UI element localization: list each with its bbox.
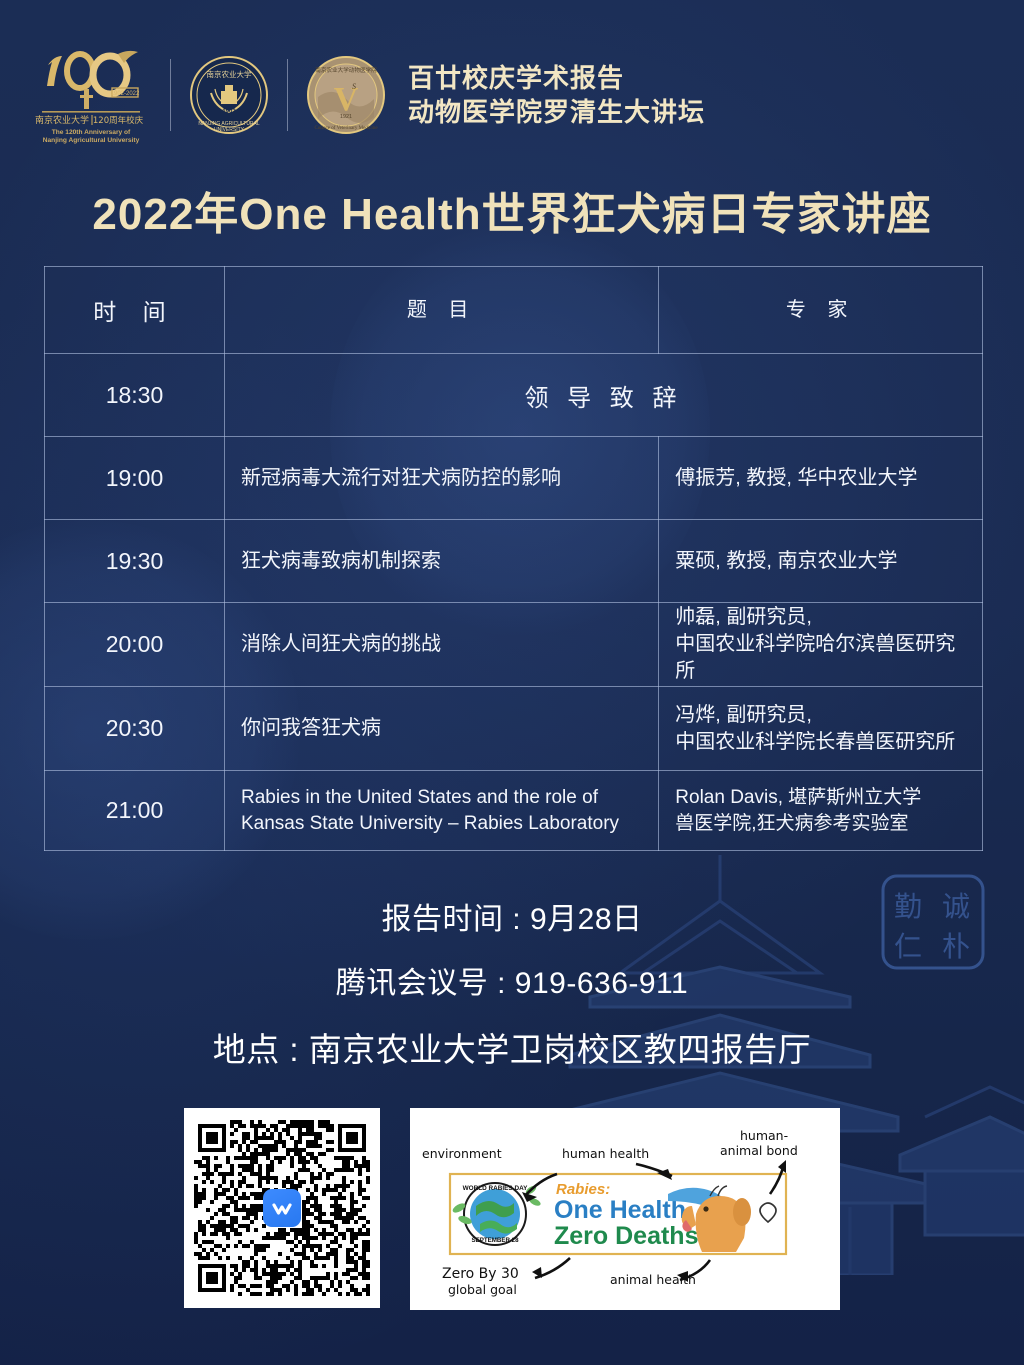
row-time: 19:30 — [45, 520, 225, 603]
label-human-health: human health — [562, 1146, 649, 1161]
row-topic-line-2: Kansas State University – Rabies Laborat… — [241, 813, 619, 834]
table-row: 19:30 狂犬病毒致病机制探索 粟硕, 教授, 南京农业大学 — [45, 520, 983, 603]
row-expert-line-1: 帅磊, 副研究员, — [675, 606, 812, 628]
label-human-animal-bond-line-2: animal bond — [720, 1143, 798, 1158]
row-expert-line-2: 中国农业科学院哈尔滨兽医研究所 — [675, 633, 955, 682]
row-time: 18:30 — [45, 354, 225, 437]
svg-text:Nanjing Agricultural Universit: Nanjing Agricultural University — [43, 137, 140, 144]
label-zero-by-30-line-2: global goal — [448, 1282, 517, 1297]
row-expert-line-2: 兽医学院,狂犬病参考实验室 — [675, 813, 908, 834]
svg-text:120周年校庆: 120周年校庆 — [93, 115, 144, 126]
veterinary-college-seal-logo: 南京农业大学动物医学院 V S 1921 College of Veterina… — [306, 55, 386, 135]
table-row: 19:00 新冠病毒大流行对狂犬病防控的影响 傅振芳, 教授, 华中农业大学 — [45, 437, 983, 520]
info-meeting-id: 腾讯会议号 : 919-636-911 — [0, 969, 1024, 999]
qr-code-panel[interactable] — [184, 1108, 380, 1308]
row-expert: 冯烨, 副研究员, 中国农业科学院长春兽医研究所 — [659, 687, 983, 771]
row-topic-line-1: Rabies in the United States and the role… — [241, 787, 598, 808]
row-expert: 粟硕, 教授, 南京农业大学 — [659, 520, 983, 603]
poster-header: 1902-2022 南京农业大学 120周年校庆 The 120th Anniv… — [0, 40, 1024, 150]
svg-text:1902: 1902 — [222, 109, 236, 115]
one-health-infographic: WORLD RABIES DAY SEPTEMBER 28 Rabies: On… — [410, 1108, 840, 1310]
row-expert: 傅振芳, 教授, 华中农业大学 — [659, 437, 983, 520]
svg-text:南京农业大学: 南京农业大学 — [35, 114, 89, 126]
svg-text:UNIVERSITY: UNIVERSITY — [214, 127, 245, 133]
row-expert: 帅磊, 副研究员, 中国农业科学院哈尔滨兽医研究所 — [659, 603, 983, 687]
header-divider-1 — [170, 59, 171, 131]
qr-code-inner — [194, 1120, 370, 1296]
svg-text:南京农业大学动物医学院: 南京农业大学动物医学院 — [315, 66, 377, 74]
row-topic: 新冠病毒大流行对狂犬病防控的影响 — [224, 437, 658, 520]
svg-text:College of Veterinary Medicine: College of Veterinary Medicine — [314, 126, 378, 131]
row-topic: 你问我答狂犬病 — [224, 687, 658, 771]
column-header-topic: 题 目 — [224, 267, 658, 354]
badge-bottom-text: SEPTEMBER 28 — [471, 1237, 519, 1244]
svg-text:1902-2022: 1902-2022 — [111, 91, 140, 97]
row-expert-line-1: Rolan Davis, 堪萨斯州立大学 — [675, 787, 921, 808]
poster-root: 勤 诚 仁 朴 1902-2022 南京农业 — [0, 0, 1024, 1365]
label-animal-health: animal health — [610, 1272, 696, 1287]
header-title-line-2: 动物医学院罗清生大讲坛 — [408, 95, 705, 129]
label-environment: environment — [422, 1146, 502, 1161]
anniversary-120-logo: 1902-2022 南京农业大学 120周年校庆 The 120th Anniv… — [30, 45, 152, 145]
schedule-table: 时 间 题 目 专 家 18:30 领 导 致 辞 19:00 新冠病毒大流行对… — [44, 266, 983, 851]
row-time: 20:30 — [45, 687, 225, 771]
svg-text:南京农业大学: 南京农业大学 — [207, 69, 252, 79]
table-row: 20:30 你问我答狂犬病 冯烨, 副研究员, 中国农业科学院长春兽医研究所 — [45, 687, 983, 771]
one-health-graphic-panel: WORLD RABIES DAY SEPTEMBER 28 Rabies: On… — [410, 1108, 840, 1310]
row-topic: Rabies in the United States and the role… — [224, 771, 658, 851]
label-human-animal-bond-line-1: human- — [740, 1128, 788, 1143]
row-topic-merged: 领 导 致 辞 — [224, 354, 982, 437]
column-header-expert: 专 家 — [659, 267, 983, 354]
label-zero-by-30-line-1: Zero By 30 — [442, 1266, 519, 1282]
header-divider-2 — [287, 59, 288, 131]
voov-mark-icon — [270, 1196, 294, 1220]
table-row: 21:00 Rabies in the United States and th… — [45, 771, 983, 851]
row-topic: 狂犬病毒致病机制探索 — [224, 520, 658, 603]
badge-top-text: WORLD RABIES DAY — [463, 1185, 528, 1192]
svg-text:1921: 1921 — [340, 114, 352, 120]
row-expert-line-1: 冯烨, 副研究员, — [675, 704, 812, 726]
bottom-media-row: WORLD RABIES DAY SEPTEMBER 28 Rabies: On… — [0, 1108, 1024, 1318]
university-seal-logo: 南京农业大学 1902 NANJING AGRICULTURAL UNIVERS… — [189, 55, 269, 135]
schedule-table-wrapper: 时 间 题 目 专 家 18:30 领 导 致 辞 19:00 新冠病毒大流行对… — [44, 266, 983, 851]
tencent-meeting-logo-icon — [263, 1189, 301, 1227]
table-header-row: 时 间 题 目 专 家 — [45, 267, 983, 354]
svg-text:S: S — [352, 82, 356, 91]
page-title: 2022年One Health世界狂犬病日专家讲座 — [0, 178, 1024, 242]
row-expert-line-2: 中国农业科学院长春兽医研究所 — [675, 731, 955, 753]
row-expert: Rolan Davis, 堪萨斯州立大学 兽医学院,狂犬病参考实验室 — [659, 771, 983, 851]
schedule-table-head: 时 间 题 目 专 家 — [45, 267, 983, 354]
schedule-table-body: 18:30 领 导 致 辞 19:00 新冠病毒大流行对狂犬病防控的影响 傅振芳… — [45, 354, 983, 851]
header-title-line-1: 百廿校庆学术报告 — [408, 61, 705, 95]
row-time: 19:00 — [45, 437, 225, 520]
info-date: 报告时间 : 9月28日 — [0, 905, 1024, 935]
banner-title-line-2: Zero Deaths — [554, 1222, 698, 1250]
table-row: 18:30 领 导 致 辞 — [45, 354, 983, 437]
row-topic: 消除人间狂犬病的挑战 — [224, 603, 658, 687]
table-row: 20:00 消除人间狂犬病的挑战 帅磊, 副研究员, 中国农业科学院哈尔滨兽医研… — [45, 603, 983, 687]
row-time: 21:00 — [45, 771, 225, 851]
header-title-block: 百廿校庆学术报告 动物医学院罗清生大讲坛 — [408, 61, 705, 130]
column-header-time: 时 间 — [45, 267, 225, 354]
row-time: 20:00 — [45, 603, 225, 687]
info-venue: 地点 : 南京农业大学卫岗校区教四报告厅 — [0, 1033, 1024, 1066]
event-info-block: 报告时间 : 9月28日 腾讯会议号 : 919-636-911 地点 : 南京… — [0, 905, 1024, 1066]
svg-text:The 120th Anniversary of: The 120th Anniversary of — [52, 129, 131, 136]
